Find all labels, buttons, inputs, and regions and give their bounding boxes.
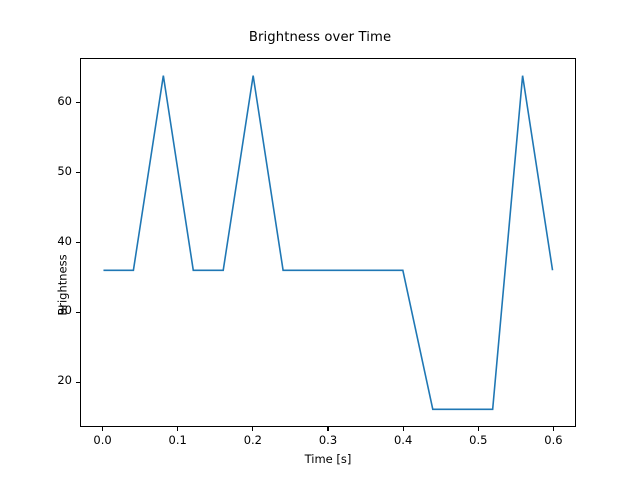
- x-axis-tick-label: 0.0: [81, 433, 125, 447]
- brightness-series-line: [103, 76, 552, 410]
- x-axis-tick-label: 0.1: [156, 433, 200, 447]
- x-axis-tick-mark: [252, 427, 253, 431]
- y-axis-label: Brightness: [56, 101, 70, 470]
- x-axis-tick-mark: [327, 427, 328, 431]
- x-axis-tick-mark: [553, 427, 554, 431]
- chart-title: Brightness over Time: [0, 30, 640, 45]
- x-axis-tick-label: 0.2: [231, 433, 275, 447]
- y-axis-tick-label: 60: [57, 94, 72, 108]
- y-axis-tick-label: 30: [57, 303, 72, 317]
- x-axis-tick-label: 0.4: [381, 433, 425, 447]
- x-axis-label: Time [s]: [80, 452, 576, 466]
- y-axis-label-wrapper: Brightness: [28, 58, 44, 427]
- x-axis-tick-mark: [478, 427, 479, 431]
- data-line-svg: [81, 59, 575, 426]
- y-axis-tick-label: 20: [57, 373, 72, 387]
- x-axis-tick-label: 0.5: [456, 433, 500, 447]
- x-axis-tick-mark: [403, 427, 404, 431]
- x-axis-tick-mark: [177, 427, 178, 431]
- y-axis-tick-label: 40: [57, 234, 72, 248]
- x-axis-tick-mark: [102, 427, 103, 431]
- x-axis-tick-label: 0.6: [531, 433, 575, 447]
- chart-figure: Brightness over Time Brightness 20 30 40…: [0, 0, 640, 480]
- y-axis-tick-label: 50: [57, 164, 72, 178]
- plot-area: [80, 58, 576, 427]
- x-axis-tick-label: 0.3: [306, 433, 350, 447]
